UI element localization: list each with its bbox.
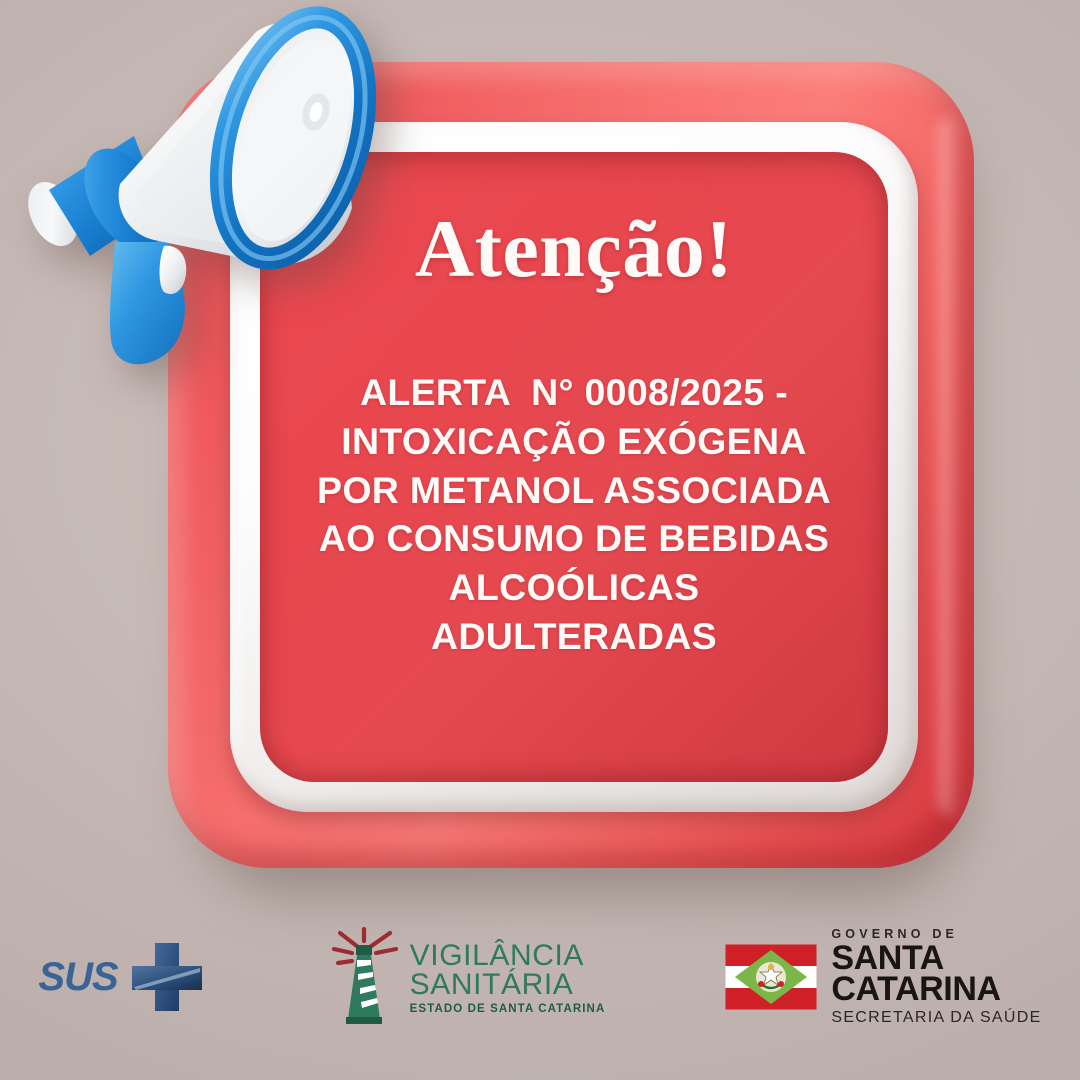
alert-line: ADULTERADAS <box>317 612 831 661</box>
sc-line3: CATARINA <box>831 974 1041 1005</box>
logo-governo-santa-catarina: GOVERNO DE SANTA CATARINA SECRETARIA DA … <box>725 927 1041 1028</box>
alert-line: AO CONSUMO DE BEBIDAS <box>317 514 831 563</box>
sc-line4: SECRETARIA DA SAÚDE <box>831 1009 1041 1027</box>
megaphone-icon <box>16 0 436 394</box>
sus-cross-icon <box>124 935 208 1019</box>
vigilancia-line3: ESTADO DE SANTA CATARINA <box>410 1003 606 1015</box>
vigilancia-wordmark: VIGILÂNCIA SANITÁRIA ESTADO DE SANTA CAT… <box>410 927 606 1015</box>
lighthouse-base <box>346 1017 382 1024</box>
logo-sus: SUS <box>38 935 207 1019</box>
alert-poster: Atenção! ALERTA N° 0008/2025 - INTOXICAÇ… <box>0 0 1080 1080</box>
alert-line: POR METANOL ASSOCIADA <box>317 466 831 515</box>
santa-catarina-wordmark: GOVERNO DE SANTA CATARINA SECRETARIA DA … <box>831 927 1041 1028</box>
page-title: Atenção! <box>415 208 733 290</box>
lighthouse-lamp <box>356 945 372 955</box>
santa-catarina-flag-icon <box>725 944 817 1010</box>
sus-wordmark: SUS <box>38 955 117 1000</box>
vigilancia-line1: VIGILÂNCIA <box>410 941 606 970</box>
flag-coat-of-arms <box>756 962 786 992</box>
alert-body-text: ALERTA N° 0008/2025 - INTOXICAÇÃO EXÓGEN… <box>317 368 831 661</box>
footer-logos: SUS <box>0 922 1080 1032</box>
vigilancia-line2: SANITÁRIA <box>410 970 606 999</box>
logo-vigilancia-sanitaria: VIGILÂNCIA SANITÁRIA ESTADO DE SANTA CAT… <box>328 927 606 1027</box>
alert-line: INTOXICAÇÃO EXÓGENA <box>317 417 831 466</box>
alert-line: ALCOÓLICAS <box>317 563 831 612</box>
lighthouse-icon <box>328 927 400 1027</box>
